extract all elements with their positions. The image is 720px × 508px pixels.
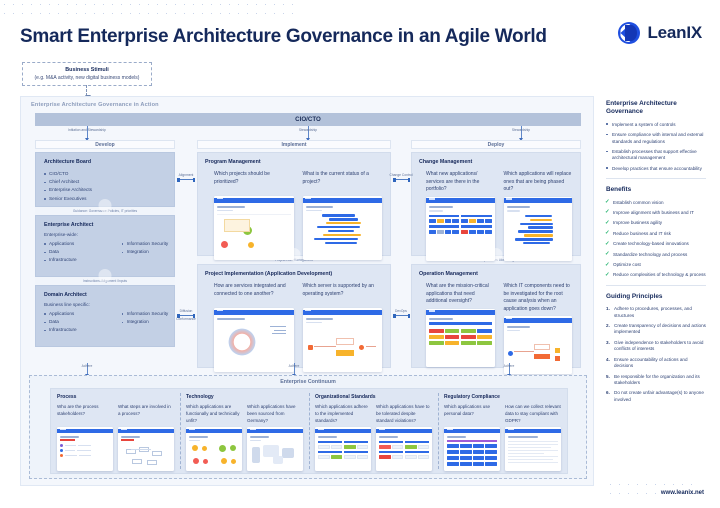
question-text: Which applications have been sourced fro… xyxy=(247,404,303,425)
sidebar-governance-list: Implement a system of controls Ensure co… xyxy=(606,122,706,173)
connector-label-adhere-2: Adhere xyxy=(289,364,300,368)
continuum-cell: Who are the process stakeholders? xyxy=(57,404,113,471)
continuum-segment-regulatory-compliance: Regulatory Compliance Which applications… xyxy=(438,389,567,473)
screenshot-project-roadmap[interactable] xyxy=(303,196,383,260)
chevron-down-icon xyxy=(99,269,112,282)
connector-label-adhere-1: Adhere xyxy=(82,364,93,368)
list-item: Information Security xyxy=(122,310,169,318)
question-text: Who are the process stakeholders? xyxy=(57,404,113,425)
list-item: Reduce business and IT risk xyxy=(606,231,706,237)
screenshot-design-principles-adherence[interactable] xyxy=(376,427,432,471)
connector-label-diffusion: Diffusion xyxy=(180,309,193,313)
list-item: Establish processes that support effecti… xyxy=(606,149,706,162)
sidebar-section-title-benefits: Benefits xyxy=(606,186,706,194)
list-item: Do not create unfair advantage(s) to any… xyxy=(606,390,706,403)
question-text: How are services integrated and connecte… xyxy=(214,283,294,305)
continuum-cell: How can we collect relevant data to stay… xyxy=(505,404,561,471)
question-text: Which projects should be prioritized? xyxy=(214,171,294,193)
question-cell: Which server is supported by an operatin… xyxy=(303,283,383,372)
domain-architect-title: Domain Architect xyxy=(36,286,174,298)
list-item: Be responsible for the organization and … xyxy=(606,374,706,387)
sidebar-divider-2 xyxy=(606,285,706,286)
enterprise-architect-title: Enterprise Architect xyxy=(36,216,174,228)
footer-url[interactable]: www.leanix.net xyxy=(661,490,704,496)
governance-board: Enterprise Architecture Governance in Ac… xyxy=(20,96,594,486)
connector-label-initiation-stewardship: Initiation and Stewardship xyxy=(68,128,106,132)
architecture-board-box: Architecture Board CIO/CTO Chief Archite… xyxy=(35,152,175,207)
leanix-logo: LeanIX xyxy=(618,22,702,44)
program-management-title: Program Management xyxy=(198,153,390,165)
change-management-panel: Change Management What new applications/… xyxy=(411,152,581,256)
segment-title: Process xyxy=(57,394,180,400)
project-implementation-panel: Project Implementation (Application Deve… xyxy=(197,264,391,368)
list-item: CIO/CTO xyxy=(44,170,92,178)
domain-architect-items: Applications Data Infrastructure Informa… xyxy=(36,307,174,335)
screenshot-lifecycle[interactable] xyxy=(426,197,495,261)
connector-label-stewardship-1: Stewardship xyxy=(299,128,317,132)
list-item: Chief Architect xyxy=(44,178,92,186)
list-item: Establish common vision xyxy=(606,200,706,206)
segment-title: Regulatory Compliance xyxy=(444,394,567,400)
architecture-board-title: Architecture Board xyxy=(36,153,174,165)
list-item: Information Security xyxy=(122,240,169,248)
segment-title: Technology xyxy=(186,394,309,400)
continuum-segment-technology: Technology Which applications are functi… xyxy=(180,389,309,473)
question-cell: What new applications/ services are ther… xyxy=(426,171,495,261)
connector-label-stewardship-2: Stewardship xyxy=(512,128,530,132)
list-item: Data xyxy=(44,318,112,326)
list-item: Create transparency of decisions and act… xyxy=(606,323,706,336)
question-cell: Which projects should be prioritized? xyxy=(214,171,294,260)
list-item: Create technology-based innovations xyxy=(606,241,706,247)
list-item: Integration xyxy=(122,318,169,326)
list-item: Optimize cost xyxy=(606,262,706,268)
stage-head-develop[interactable]: Develop xyxy=(35,140,175,149)
sidebar: Enterprise Architecture Governance Imple… xyxy=(606,100,706,407)
list-item: Infrastructure xyxy=(44,256,112,264)
screenshot-functional-technical-fit[interactable] xyxy=(186,427,242,471)
screenshot-project-risk-business-value[interactable] xyxy=(214,196,294,260)
list-item: Senior Executives xyxy=(44,195,92,203)
chevron-down-icon xyxy=(288,248,301,261)
enterprise-architect-items: Applications Data Infrastructure Informa… xyxy=(36,237,174,265)
question-text: Which applications are functionally and … xyxy=(186,404,242,425)
stimuli-arrow-icon xyxy=(86,85,87,96)
change-management-title: Change Management xyxy=(412,153,580,165)
question-text: Which applications will replace ones tha… xyxy=(504,171,573,194)
list-item: Improve business agility xyxy=(606,220,706,226)
question-text: Which applications have to be tolerated … xyxy=(376,404,432,425)
list-item: Implement a system of controls xyxy=(606,122,706,128)
connector-devops xyxy=(393,315,410,316)
domain-architect-scope: Business line specific: xyxy=(36,298,174,307)
stage-label-develop: Develop xyxy=(95,142,114,148)
cio-cto-label: CIO/CTO xyxy=(295,116,321,123)
question-text: Which IT components need to be investiga… xyxy=(504,283,573,313)
question-text: What are the mission-critical applicatio… xyxy=(426,283,495,306)
continuum-segments: Process Who are the process stakeholders… xyxy=(50,388,568,474)
screenshot-raci-onboarding[interactable] xyxy=(57,427,113,471)
list-item: Data xyxy=(44,248,112,256)
enterprise-architect-box: Enterprise Architect Enterprise-wide: Ap… xyxy=(35,215,175,277)
connector-label-alignment: Alignment xyxy=(179,173,194,177)
continuum-cell: Which applications have been sourced fro… xyxy=(247,404,303,471)
question-text: What steps are involved in a process? xyxy=(118,404,174,425)
sidebar-principles-list: Adhere to procedures, processes, and str… xyxy=(606,306,706,403)
project-implementation-title: Project Implementation (Application Deve… xyxy=(198,265,390,277)
continuum-cell: What steps are involved in a process? xyxy=(118,404,174,471)
sidebar-benefits-list: Establish common vision Improve alignmen… xyxy=(606,200,706,279)
screenshot-business-criticality[interactable] xyxy=(426,309,495,367)
logo-text: LeanIX xyxy=(647,23,702,43)
list-item: Give independence to stakeholders to avo… xyxy=(606,340,706,353)
question-text: What is the current status of a project? xyxy=(303,171,383,193)
list-item: Adhere to procedures, processes, and str… xyxy=(606,306,706,319)
continuum-cell: Which applications adhere to the impleme… xyxy=(315,404,371,471)
question-text: What new applications/ services are ther… xyxy=(426,171,495,194)
connector-label-adhere-3: Adhere xyxy=(504,364,515,368)
question-text: Which applications adhere to the impleme… xyxy=(315,404,371,425)
question-cell: What are the mission-critical applicatio… xyxy=(426,283,495,374)
business-stimuli-box: Business Stimuli (e.g. M&A activity, new… xyxy=(22,62,152,86)
screenshot-gdpr-assessment-survey[interactable] xyxy=(505,427,561,471)
list-item: Enterprise Architects xyxy=(44,186,92,194)
screenshot-geographical-sourcing[interactable] xyxy=(247,427,303,471)
connector-change-control xyxy=(393,179,410,180)
continuum-segment-process: Process Who are the process stakeholders… xyxy=(51,389,180,473)
question-text: Which applications use personal data? xyxy=(444,404,500,425)
screenshot-dataflow-explorer[interactable] xyxy=(303,308,383,372)
list-item: Ensure compliance with internal and exte… xyxy=(606,132,706,145)
connector-label-devops: DevOps xyxy=(395,309,407,313)
list-item: Ensure accountability of actions and dec… xyxy=(606,357,706,370)
column-deploy: Deploy Change Management What new applic… xyxy=(411,140,581,368)
continuum-segment-organizational-standards: Organizational Standards Which applicati… xyxy=(309,389,438,473)
enterprise-continuum-heading: Enterprise Continuum xyxy=(30,376,586,385)
stage-head-deploy[interactable]: Deploy xyxy=(411,140,581,149)
list-item: Applications xyxy=(44,310,112,318)
domain-architect-box: Domain Architect Business line specific:… xyxy=(35,285,175,347)
stage-label-implement: Implement xyxy=(281,142,306,148)
business-stimuli-subtitle: (e.g. M&A activity, new digital business… xyxy=(28,75,146,81)
screenshot-design-principles[interactable] xyxy=(315,427,371,471)
screenshot-interface-circle-map[interactable] xyxy=(214,308,294,372)
list-item: Integration xyxy=(122,248,169,256)
enterprise-continuum: Enterprise Continuum Process Who are the… xyxy=(29,375,587,479)
question-cell: What is the current status of a project? xyxy=(303,171,383,260)
question-text: How can we collect relevant data to stay… xyxy=(505,404,561,425)
decorative-dot-grid-top xyxy=(0,0,300,22)
enterprise-architect-scope: Enterprise-wide: xyxy=(36,228,174,237)
cio-cto-bar: CIO/CTO xyxy=(35,113,581,126)
screenshot-application-roadmap[interactable] xyxy=(504,197,573,261)
operation-management-title: Operation Management xyxy=(412,265,580,277)
screenshot-data-object-use[interactable] xyxy=(444,427,500,471)
chevron-down-icon xyxy=(490,248,503,261)
sidebar-section-title-principles: Guiding Principles xyxy=(606,293,706,301)
continuum-cell: Which applications use personal data? xyxy=(444,404,500,471)
connector-label-conformance: Conformance xyxy=(176,317,196,321)
stage-label-deploy: Deploy xyxy=(488,142,505,148)
list-item: Standardize technology and process xyxy=(606,252,706,258)
list-item: Develop practices that ensure accountabi… xyxy=(606,166,706,172)
stage-head-implement[interactable]: Implement xyxy=(197,140,391,149)
connector-alignment xyxy=(177,179,195,180)
question-cell: Which applications will replace ones tha… xyxy=(504,171,573,261)
list-item: Reduce complexities of technology & proc… xyxy=(606,272,706,278)
list-item: Improve alignment with business and IT xyxy=(606,210,706,216)
operation-management-panel: Operation Management What are the missio… xyxy=(411,264,581,368)
question-cell: How are services integrated and connecte… xyxy=(214,283,294,372)
column-implement: Implement Program Management Which proje… xyxy=(197,140,391,368)
segment-title: Organizational Standards xyxy=(315,394,438,400)
connector-diffusion-conformance xyxy=(177,315,195,316)
column-develop: Develop Architecture Board CIO/CTO Chief… xyxy=(35,140,175,347)
continuum-cell: Which applications have to be tolerated … xyxy=(376,404,432,471)
screenshot-business-model-canvas[interactable] xyxy=(118,427,174,471)
page-title: Smart Enterprise Architecture Governance… xyxy=(20,26,547,48)
list-item: Infrastructure xyxy=(44,326,112,334)
list-item: Applications xyxy=(44,240,112,248)
sidebar-section-title-governance: Enterprise Architecture Governance xyxy=(606,100,706,117)
question-text: Which server is supported by an operatin… xyxy=(303,283,383,305)
business-stimuli-title: Business Stimuli xyxy=(28,67,146,73)
question-cell: Which IT components need to be investiga… xyxy=(504,283,573,374)
chevron-down-icon xyxy=(99,199,112,212)
continuum-cell: Which applications are functionally and … xyxy=(186,404,242,471)
leanix-logo-icon xyxy=(618,22,640,44)
connector-label-change-control: Change Control xyxy=(389,173,412,177)
board-heading: Enterprise Architecture Governance in Ac… xyxy=(21,97,593,108)
architecture-board-items: CIO/CTO Chief Architect Enterprise Archi… xyxy=(36,165,174,203)
program-management-panel: Program Management Which projects should… xyxy=(197,152,391,256)
sidebar-divider-1 xyxy=(606,178,706,179)
